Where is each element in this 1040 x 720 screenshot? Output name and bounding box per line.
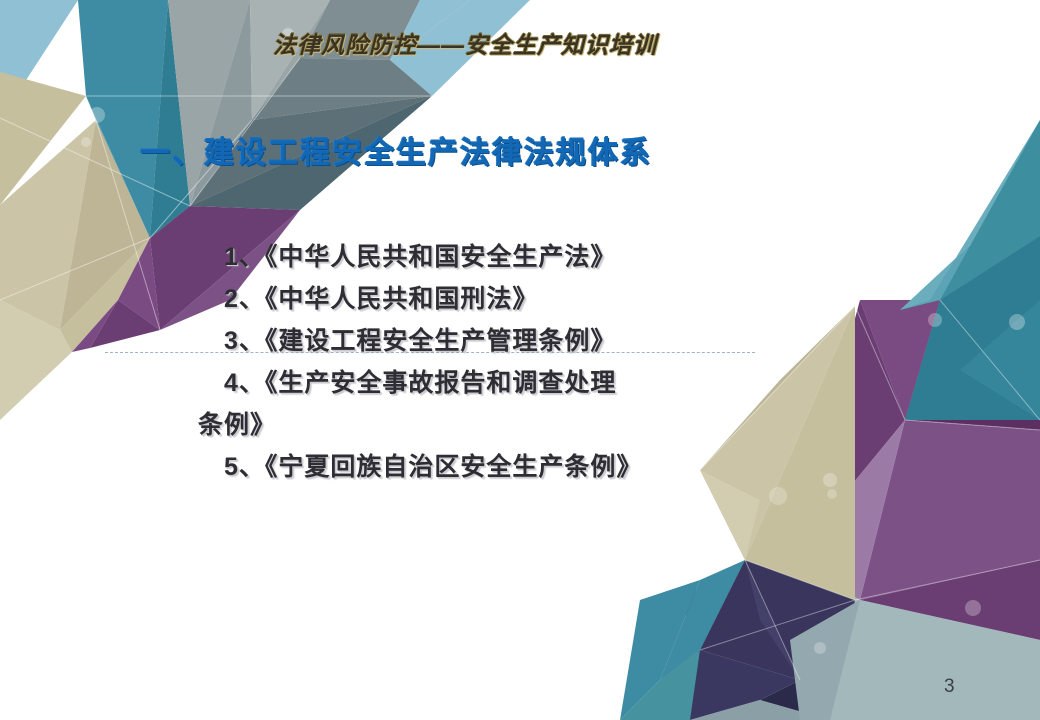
slide-canvas: 法律风险防控——安全生产知识培训 一、建设工程安全生产法律法规体系 1、《中华人…: [0, 0, 1040, 720]
list-item-text: 1、《中华人民共和国安全生产法》: [224, 243, 616, 271]
page-title: 一、建设工程安全生产法律法规体系: [140, 128, 652, 172]
list-item-text: 4、《生产安全事故报告和调查处理: [224, 369, 616, 397]
list-item-text: 2、《中华人民共和国刑法》: [224, 285, 538, 313]
list-item-continuation: 条例》: [198, 404, 694, 446]
list-item: 1、《中华人民共和国安全生产法》: [224, 236, 864, 278]
list-item-text: 5、《宁夏回族自治区安全生产条例》: [224, 453, 642, 481]
list-item-text: 3、《建设工程安全生产管理条例》: [224, 327, 616, 355]
list-item: 4、《生产安全事故报告和调查处理 条例》: [198, 362, 694, 446]
list-item: 5、《宁夏回族自治区安全生产条例》: [224, 446, 864, 488]
list-item: 2、《中华人民共和国刑法》: [224, 278, 864, 320]
law-list: 1、《中华人民共和国安全生产法》 2、《中华人民共和国刑法》 3、《建设工程安全…: [224, 236, 864, 488]
list-item: 3、《建设工程安全生产管理条例》: [224, 320, 864, 362]
slide-header-title: 法律风险防控——安全生产知识培训: [0, 26, 1040, 60]
page-number: 3: [944, 676, 955, 698]
